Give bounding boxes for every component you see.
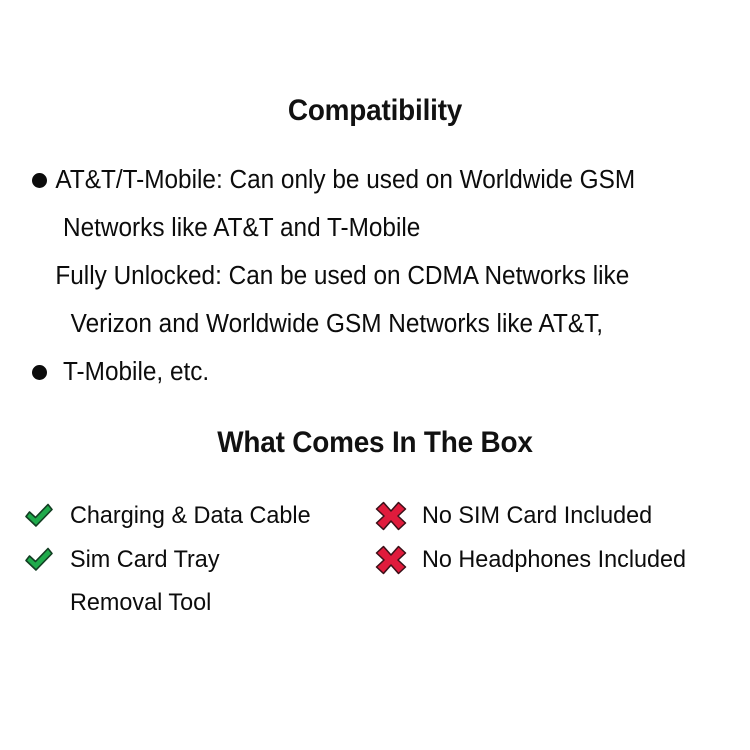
list-item-line: T-Mobile, etc.: [0, 348, 716, 396]
compatibility-list: AT&T/T-Mobile: Can only be used on World…: [0, 156, 750, 396]
list-item-line: Verizon and Worldwide GSM Networks like …: [0, 300, 716, 348]
product-info-panel: Compatibility AT&T/T-Mobile: Can only be…: [0, 0, 750, 750]
list-item-label: Sim Card Tray: [70, 538, 349, 582]
included-column: Charging & Data Cable Sim Card Tray Remo…: [22, 494, 362, 624]
list-item-line: AT&T/T-Mobile: Can only be used on World…: [0, 156, 716, 204]
list-item: Sim Card Tray Removal Tool: [22, 538, 362, 624]
not-included-column: No SIM Card Included No Headphones Inclu…: [374, 494, 750, 582]
compatibility-heading: Compatibility: [26, 94, 724, 128]
list-item-label-continued: Removal Tool: [70, 582, 349, 624]
green-check-icon: [22, 500, 56, 532]
list-item-label: No SIM Card Included: [422, 494, 735, 538]
red-cross-icon: [374, 544, 408, 576]
red-cross-icon: [374, 500, 408, 532]
list-item: Charging & Data Cable: [22, 494, 362, 538]
list-item-line: Networks like AT&T and T-Mobile: [0, 204, 716, 252]
list-item: Fully Unlocked: Can be used on CDMA Netw…: [0, 252, 750, 396]
list-item-line: Fully Unlocked: Can be used on CDMA Netw…: [0, 252, 716, 300]
green-check-icon: [22, 544, 56, 576]
list-item-label: No Headphones Included: [422, 538, 735, 582]
list-item: AT&T/T-Mobile: Can only be used on World…: [0, 156, 750, 252]
box-contents-list: Charging & Data Cable Sim Card Tray Remo…: [0, 494, 750, 624]
list-item: No Headphones Included: [374, 538, 750, 582]
list-item: No SIM Card Included: [374, 494, 750, 538]
box-contents-heading: What Comes In The Box: [26, 426, 724, 460]
list-item-label: Charging & Data Cable: [70, 494, 349, 538]
